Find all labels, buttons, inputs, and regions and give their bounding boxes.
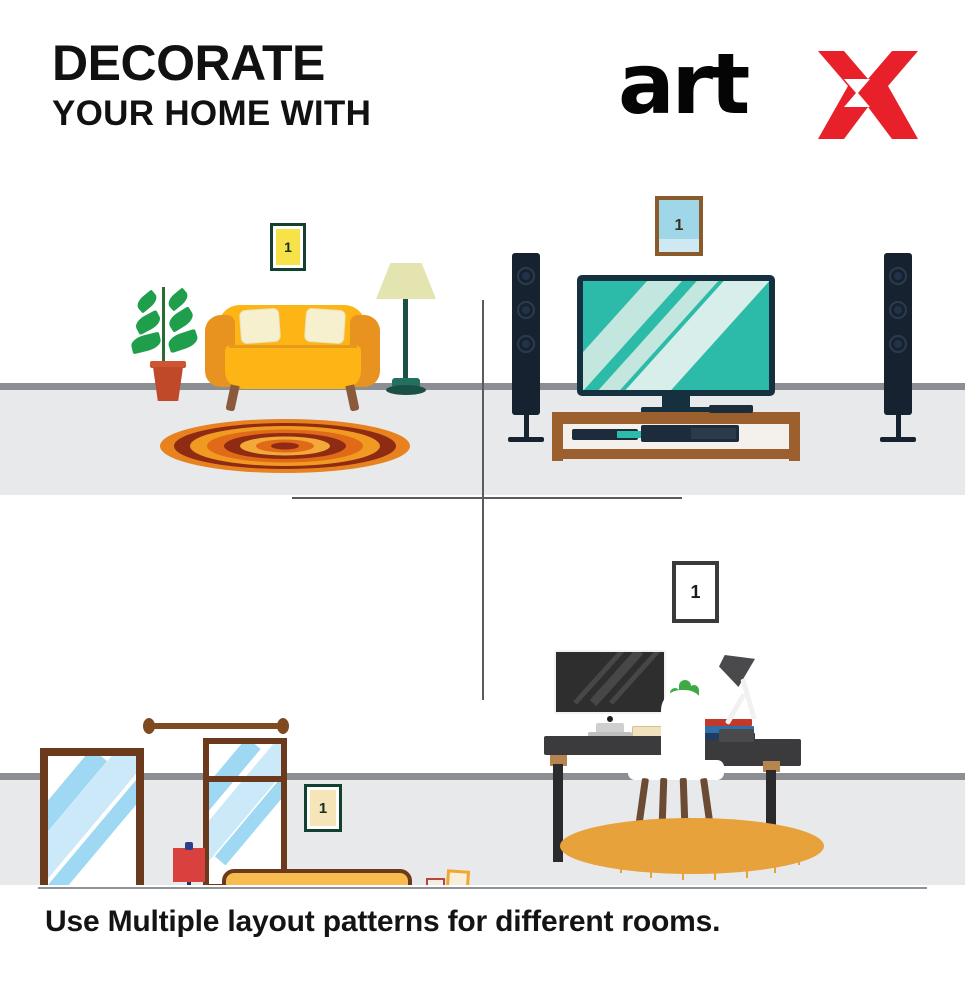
desk-box (719, 729, 754, 742)
logo-wordmark: art (618, 45, 747, 125)
scene-home-office[interactable]: 1 (483, 530, 965, 885)
footer-caption: Use Multiple layout patterns for differe… (45, 905, 925, 939)
wall-frame-tv[interactable]: 1 (655, 196, 703, 256)
headline-line-1: DECORATE (52, 38, 371, 88)
headline: DECORATE YOUR HOME WITH (52, 38, 371, 136)
frame-number: 1 (659, 200, 699, 252)
wall-frame-bedroom[interactable]: 1 (304, 784, 342, 832)
frame-number: 1 (276, 229, 300, 265)
pillow-left (239, 308, 281, 345)
scene-tv-room[interactable]: 1 (483, 175, 965, 495)
divider-vertical (482, 300, 484, 700)
scene-grid: 1 (0, 175, 965, 885)
frame-number: 1 (676, 565, 715, 619)
scene-living-room[interactable]: 1 (0, 175, 483, 495)
footer-rule (38, 887, 927, 889)
tufted-headboard: ✦ ✦ ✦ ✦ ✦ ✦ ✦ ✦ ✦ (222, 869, 412, 885)
brand-logo: art (618, 45, 918, 140)
device-panel (691, 428, 736, 439)
pillow-right (304, 308, 346, 345)
oval-rug (560, 818, 824, 874)
round-rug (160, 419, 410, 473)
headline-line-2: YOUR HOME WITH (52, 92, 371, 136)
device-display (617, 431, 641, 438)
soundbar (709, 405, 753, 413)
banner-header: DECORATE YOUR HOME WITH art (0, 0, 965, 175)
tv-screen (583, 281, 769, 390)
scene-bedroom[interactable]: 1 ✦ ✦ ✦ ✦ ✦ ✦ ✦ ✦ ✦ (0, 530, 483, 885)
wall-frame-living[interactable]: 1 (270, 223, 306, 271)
divider-horizontal (292, 497, 682, 499)
promo-banner: { "header": { "headline_line1": "DECORAT… (0, 0, 965, 1000)
frame-number: 1 (310, 790, 336, 826)
wall-frame-office[interactable]: 1 (672, 561, 719, 623)
logo-x-mark (814, 49, 922, 141)
